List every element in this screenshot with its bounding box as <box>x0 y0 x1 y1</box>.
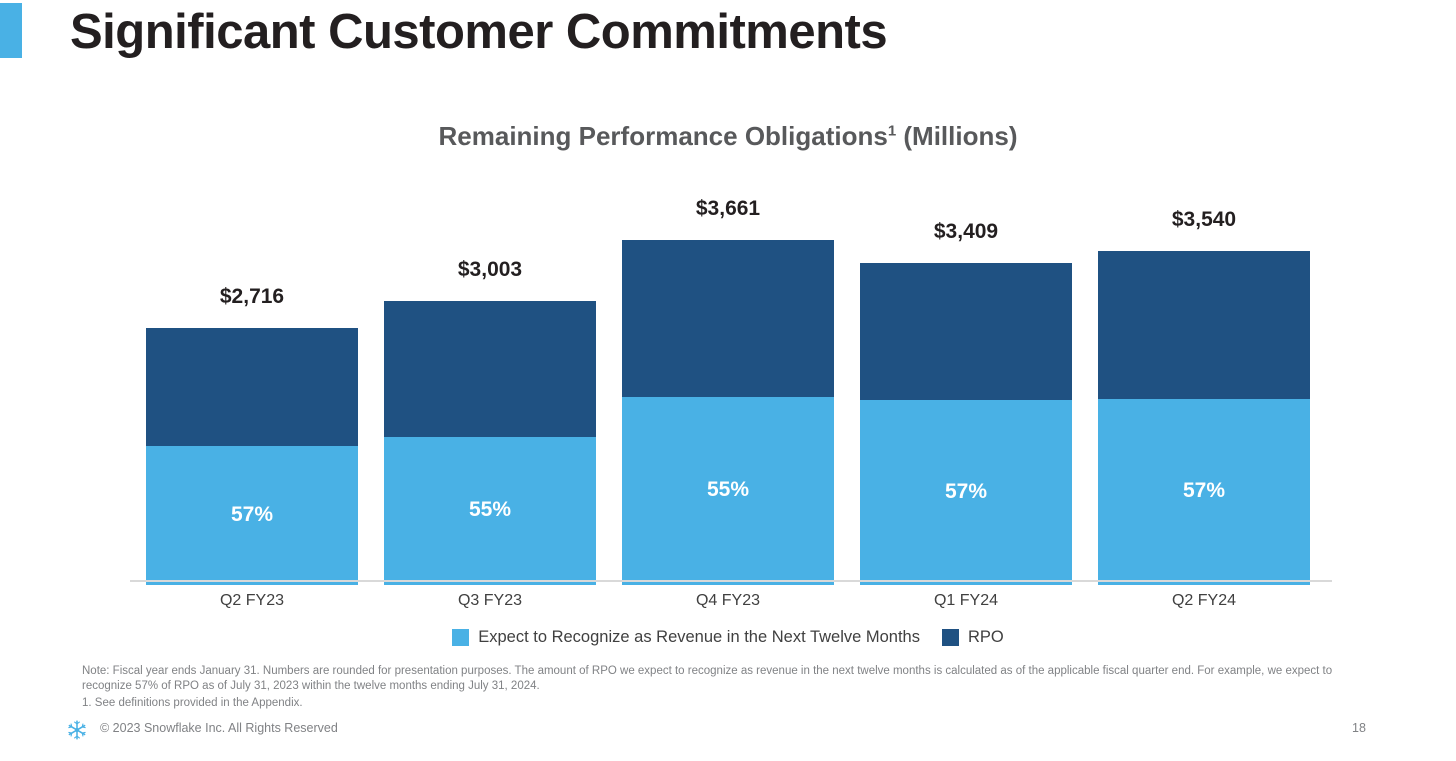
bar-percent-label: 57% <box>860 479 1072 503</box>
bar-stack[interactable]: 57% <box>1098 251 1310 585</box>
footnote-note: Note: Fiscal year ends January 31. Numbe… <box>82 664 1382 693</box>
copyright-text: © 2023 Snowflake Inc. All Rights Reserve… <box>100 721 338 735</box>
bar-percent-label: 55% <box>622 478 834 502</box>
bar-stack[interactable]: 55% <box>384 301 596 585</box>
chart-title: Remaining Performance Obligations1 (Mill… <box>0 121 1456 152</box>
footnote-reference: 1. See definitions provided in the Appen… <box>82 696 1382 711</box>
chart-plot-area: $2,71657%$3,00355%$3,66155%$3,40957%$3,5… <box>0 185 1456 585</box>
x-axis-line <box>130 580 1332 582</box>
bar-total-label: $3,661 <box>622 197 834 221</box>
bar-segment-rpo[interactable] <box>384 301 596 437</box>
bar-segment-rpo[interactable] <box>860 263 1072 400</box>
legend-swatch-icon <box>942 629 959 646</box>
slide: Significant Customer Commitments Remaini… <box>0 0 1456 761</box>
x-axis-label-2: Q3 FY23 <box>384 592 596 610</box>
bar-segment-rpo[interactable] <box>1098 251 1310 399</box>
bar-segment-next-twelve-months[interactable]: 55% <box>384 437 596 585</box>
chart-legend: Expect to Recognize as Revenue in the Ne… <box>0 628 1456 647</box>
x-axis-label-4: Q1 FY24 <box>860 592 1072 610</box>
x-axis-label-1: Q2 FY23 <box>146 592 358 610</box>
title-accent-bar <box>0 3 22 58</box>
bar-segment-next-twelve-months[interactable]: 57% <box>146 446 358 585</box>
x-axis-label-3: Q4 FY23 <box>622 592 834 610</box>
bar-segment-next-twelve-months[interactable]: 57% <box>860 400 1072 585</box>
x-axis-label-5: Q2 FY24 <box>1098 592 1310 610</box>
bar-percent-label: 57% <box>146 502 358 526</box>
bar-percent-label: 55% <box>384 498 596 522</box>
bar-group[interactable]: $3,00355% <box>384 189 596 585</box>
bar-segment-next-twelve-months[interactable]: 55% <box>622 397 834 585</box>
bar-total-label: $2,716 <box>146 285 358 309</box>
bar-stack[interactable]: 57% <box>860 263 1072 585</box>
bar-total-label: $3,409 <box>860 220 1072 244</box>
bar-group[interactable]: $3,66155% <box>622 189 834 585</box>
chart-title-suffix: (Millions) <box>896 121 1017 151</box>
bar-stack[interactable]: 57% <box>146 328 358 585</box>
bar-total-label: $3,003 <box>384 258 596 282</box>
bar-segment-rpo[interactable] <box>622 240 834 397</box>
legend-item[interactable]: RPO <box>942 628 1004 647</box>
bar-group[interactable]: $3,54057% <box>1098 189 1310 585</box>
chart-title-footnote-marker: 1 <box>888 122 896 139</box>
bar-percent-label: 57% <box>1098 479 1310 503</box>
bar-stack[interactable]: 55% <box>622 240 834 585</box>
bar-segment-next-twelve-months[interactable]: 57% <box>1098 399 1310 585</box>
legend-item[interactable]: Expect to Recognize as Revenue in the Ne… <box>452 628 920 647</box>
legend-label: Expect to Recognize as Revenue in the Ne… <box>478 628 920 647</box>
bar-segment-rpo[interactable] <box>146 328 358 446</box>
page-number: 18 <box>1352 721 1392 735</box>
footnote-block: Note: Fiscal year ends January 31. Numbe… <box>82 664 1382 711</box>
legend-label: RPO <box>968 628 1004 647</box>
bar-group[interactable]: $3,40957% <box>860 189 1072 585</box>
snowflake-logo-icon <box>66 719 88 741</box>
legend-swatch-icon <box>452 629 469 646</box>
page-title: Significant Customer Commitments <box>70 2 1370 62</box>
bar-total-label: $3,540 <box>1098 208 1310 232</box>
bar-group[interactable]: $2,71657% <box>146 189 358 585</box>
chart-title-text: Remaining Performance Obligations <box>439 121 888 151</box>
